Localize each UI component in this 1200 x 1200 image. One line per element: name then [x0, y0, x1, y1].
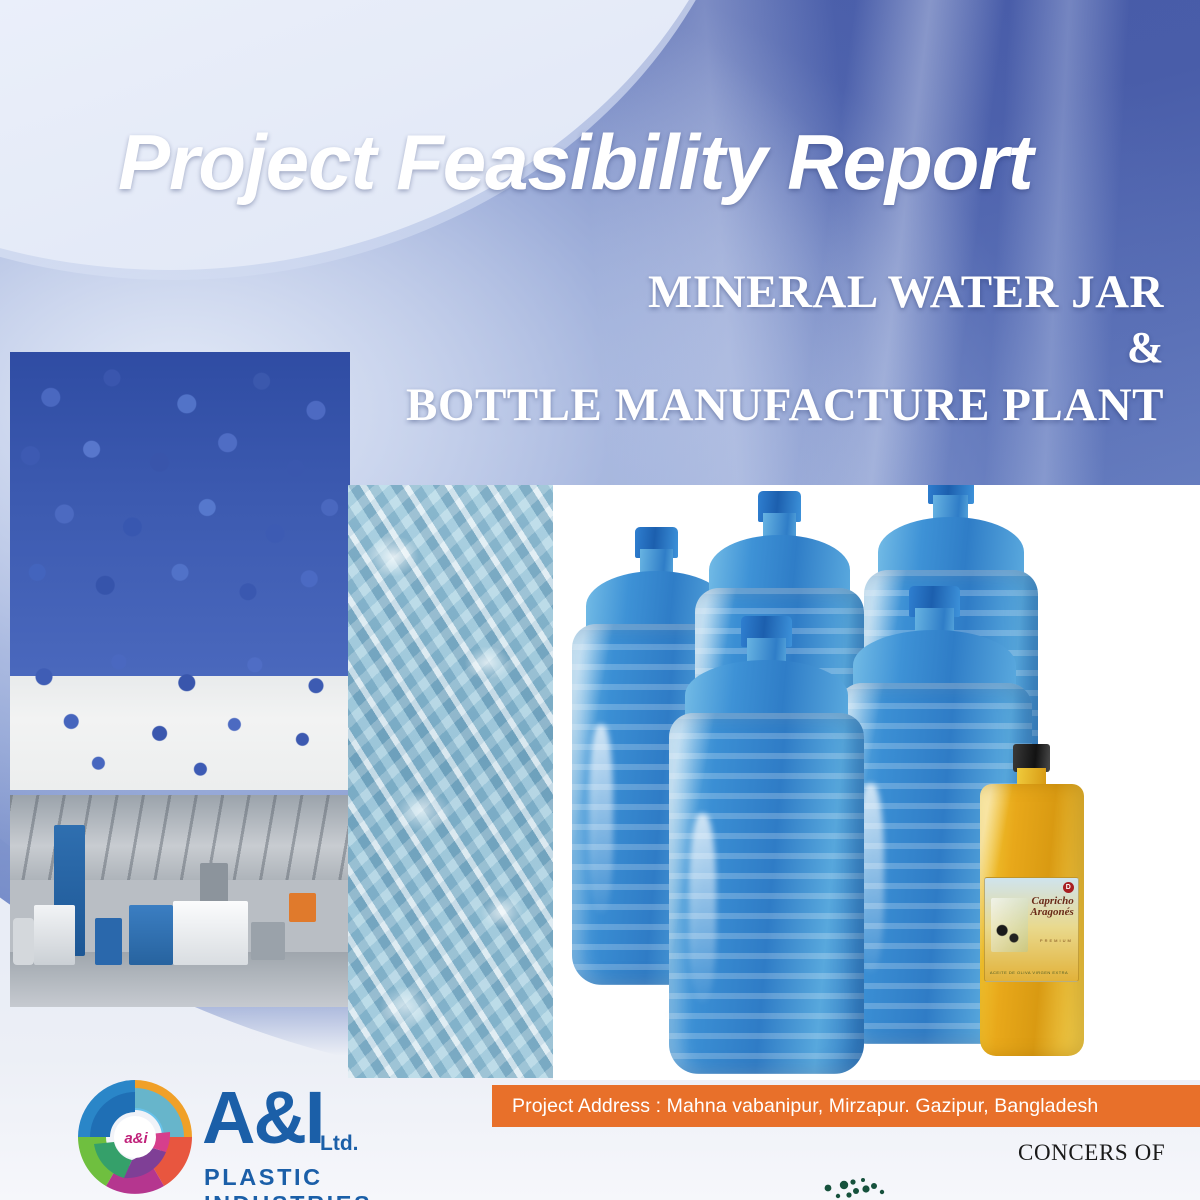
page-title: Project Feasibility Report [118, 122, 1178, 204]
logo-monogram: a&i [118, 1129, 154, 1147]
oil-bottle-label: D Capricho Aragonés PREMIUM ACEITE DE OL… [984, 877, 1079, 982]
jar-gloss [589, 725, 613, 913]
logo-wordmark: A&I [202, 1084, 323, 1152]
factory-machine-3 [95, 918, 122, 965]
company-logo[interactable]: a&i A&I Ltd. PLASTIC INDUSTRIES [72, 1074, 492, 1200]
factory-machine-2 [34, 905, 75, 964]
logo-tagline: PLASTIC INDUSTRIES [204, 1164, 492, 1200]
subtitle-line-1: MINERAL WATER JAR [648, 265, 1164, 319]
logo-suffix: Ltd. [320, 1132, 358, 1156]
factory-machine-4 [129, 905, 173, 964]
factory-machine-6 [251, 922, 285, 960]
pellets-scatter [10, 641, 350, 790]
jar-gloss [689, 814, 716, 1002]
photo-factory [10, 795, 350, 1007]
photo-preforms [348, 485, 553, 1078]
olive-oil-bottle: D Capricho Aragonés PREMIUM ACEITE DE OL… [980, 747, 1084, 1056]
address-text: Project Address : Mahna vabanipur, Mirza… [492, 1095, 1098, 1118]
water-jar-4 [669, 634, 863, 1074]
partner-dotted-logo-icon [818, 1176, 908, 1200]
factory-machine-7 [13, 918, 33, 965]
oil-volume-badge: D [1063, 882, 1074, 893]
olive-illustration-icon [991, 898, 1028, 952]
logo-name: A&I [202, 1084, 323, 1152]
subtitle-line-2: BOTTLE MANUFACTURE PLANT [406, 378, 1164, 432]
factory-crane [289, 893, 316, 923]
subtitle-ampersand: & [1127, 322, 1164, 373]
oil-descriptor: ACEITE DE OLIVA VIRGEN EXTRA [990, 970, 1068, 975]
logo-swirl-icon: a&i [72, 1074, 198, 1200]
address-banner: Project Address : Mahna vabanipur, Mirza… [492, 1085, 1200, 1127]
pellets-heap [10, 352, 350, 676]
cover-page: Project Feasibility Report MINERAL WATER… [0, 0, 1200, 1200]
factory-machine-5 [173, 901, 248, 965]
concerns-of-label: CONCERS OF [1018, 1140, 1165, 1166]
photo-water-jars: D Capricho Aragonés PREMIUM ACEITE DE OL… [553, 485, 1200, 1080]
oil-brand-line-2: Aragonés [1030, 907, 1073, 918]
oil-brand-name: Capricho Aragonés [1030, 896, 1073, 918]
photo-pellets [10, 352, 350, 790]
jar-body [669, 713, 863, 1074]
factory-machine-8 [200, 863, 227, 905]
oil-bottle-cap [1013, 744, 1050, 772]
oil-brand-sub: PREMIUM [1040, 938, 1073, 943]
